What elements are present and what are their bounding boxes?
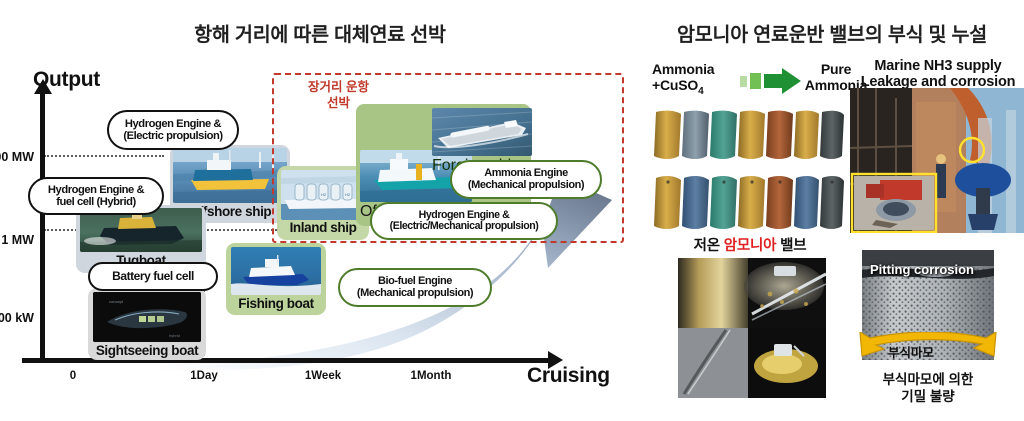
low-temp-ammonia-valve-caption: 저온 암모니아 밸브 (660, 238, 840, 254)
callout-line2: (Electric propulsion) (123, 130, 222, 142)
callout-line1: Hydrogen Engine & (48, 184, 144, 196)
pitting-corrosion-label: Pitting corrosion (870, 262, 974, 277)
y-tick-100mw: 100 MW (0, 150, 34, 164)
callout-battery-fuel-cell[interactable]: Battery fuel cell (88, 262, 218, 291)
ammonia-label-line1: Ammonia (652, 62, 744, 78)
svg-text:concept: concept (109, 299, 124, 304)
offshore-ship-photo-left (173, 148, 287, 203)
ship-card-caption: Sightseeing boat (88, 344, 206, 358)
callout-line1: Bio-fuel Engine (357, 276, 473, 288)
fishing-boat-photo (231, 247, 321, 295)
callout-hydrogen-electric[interactable]: Hydrogen Engine & (Electric propulsion) (107, 110, 239, 150)
ammonia-cuso4-label: Ammonia +CuSO4 (652, 62, 744, 97)
long-voyage-box-label: 장거리 운항 선박 (291, 80, 386, 111)
x-tick-1month: 1Month (400, 370, 462, 382)
valve-caption-pre: 저온 (694, 238, 724, 254)
callout-ammonia-engine[interactable]: Ammonia Engine (Mechanical propulsion) (450, 160, 602, 199)
right-panel-title: 암모니아 연료운반 밸브의 부식 및 누설 (646, 18, 1018, 47)
bottom-caption-line2: 기밀 불량 (848, 389, 1008, 406)
callout-line2: fuel cell (Hybrid) (48, 196, 144, 208)
bottom-caption-line1: 부식마모에 의한 (848, 372, 1008, 389)
figure-root: 항해 거리에 따른 대체연료 선박 Output Cruising 1 (0, 0, 1024, 421)
valve-caption-highlight: 암모니아 (724, 238, 777, 254)
guide-100mw (44, 155, 164, 157)
x-tick-1week: 1Week (294, 370, 352, 382)
y-tick-100kw: 100 kW (0, 311, 34, 325)
callout-line1: Ammonia Engine (468, 168, 584, 180)
marine-nh3-photo (850, 88, 1024, 233)
x-tick-1day: 1Day (178, 370, 230, 382)
ship-card-fishing[interactable]: Fishing boat (226, 243, 326, 315)
left-panel-alt-fuel-ships: 항해 거리에 따른 대체연료 선박 Output Cruising 1 (0, 0, 640, 421)
x-tick-0: 0 (63, 370, 83, 382)
valve-caption-post: 밸브 (776, 238, 806, 254)
marine-nh3-label: Marine NH3 supply Leakage and corrosion (852, 58, 1024, 90)
callout-hydrogen-electric-mechanical[interactable]: Hydrogen Engine & (Electric/Mechanical p… (370, 202, 558, 240)
bottom-caption: 부식마모에 의한 기밀 불량 (848, 372, 1008, 406)
ship-card-caption: Fishing boat (226, 297, 326, 311)
left-panel-title: 항해 거리에 따른 대체연료 선박 (20, 18, 620, 47)
callout-line2: (Electric/Mechanical propulsion) (390, 221, 539, 232)
sightseeing-boat-photo: concept hybrid (93, 292, 201, 342)
wear-arrow-label: 부식마모 (888, 342, 934, 361)
long-voyage-label-line2: 선박 (291, 96, 386, 112)
y-axis-label: Output (33, 68, 100, 92)
callout-hydrogen-fuelcell-hybrid[interactable]: Hydrogen Engine & fuel cell (Hybrid) (28, 177, 164, 215)
y-axis-line (40, 92, 45, 360)
valve-specimen-grid (650, 108, 845, 236)
valve-inspection-photo-grid (678, 258, 826, 398)
ship-card-sightseeing[interactable]: concept hybrid Sightseeing boat (88, 288, 206, 360)
y-tick-1mw: 1 MW (0, 233, 34, 247)
marine-label-line1: Marine NH3 supply (852, 58, 1024, 74)
callout-line2: (Mechanical propulsion) (357, 288, 473, 300)
long-voyage-label-line1: 장거리 운항 (291, 80, 386, 96)
callout-line2: (Mechanical propulsion) (468, 180, 584, 192)
x-axis-label: Cruising (527, 364, 610, 388)
callout-line1: Hydrogen Engine & (123, 118, 222, 130)
svg-text:hybrid: hybrid (169, 333, 180, 338)
callout-line1: Battery fuel cell (112, 270, 194, 283)
ammonia-label-line2: +CuSO4 (652, 78, 744, 97)
callout-biofuel-engine[interactable]: Bio-fuel Engine (Mechanical propulsion) (338, 268, 492, 307)
green-arrow-icon (740, 68, 802, 94)
right-panel-ammonia-valve-corrosion: 암모니아 연료운반 밸브의 부식 및 누설 Ammonia +CuSO4 Pur… (640, 0, 1024, 421)
